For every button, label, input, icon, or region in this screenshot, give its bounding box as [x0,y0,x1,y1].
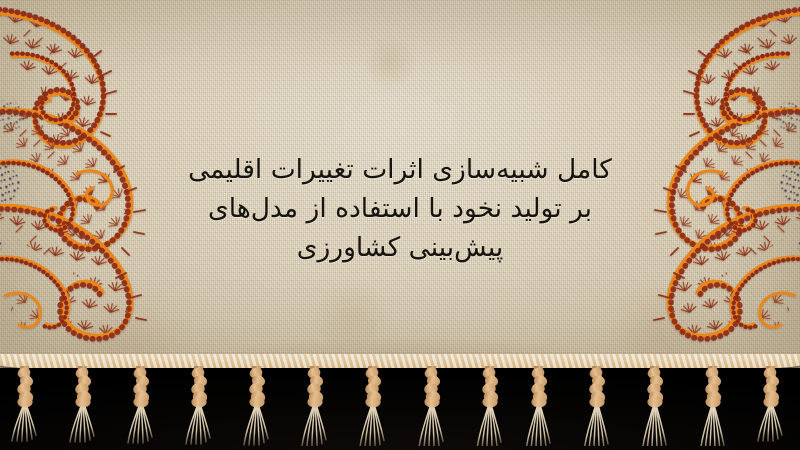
tassel [121,366,165,446]
title-line-1: کامل شبیه‌سازی اثرات تغییرات اقلیمی [0,150,800,189]
tassel [464,366,508,446]
tassel [749,366,793,446]
tassel [64,366,108,446]
tassel [7,366,51,446]
tassel [521,366,565,446]
tassel [349,366,393,446]
tassel [178,366,222,446]
tassel [578,366,622,446]
knotted-tassel-fringe [0,366,800,450]
tassel [407,366,451,446]
slide-canvas: کامل شبیه‌سازی اثرات تغییرات اقلیمی بر ت… [0,0,800,450]
tassel [635,366,679,446]
textile-background: کامل شبیه‌سازی اثرات تغییرات اقلیمی بر ت… [0,0,800,372]
slide-title: کامل شبیه‌سازی اثرات تغییرات اقلیمی بر ت… [0,150,800,267]
tassel [692,366,736,446]
title-line-2: بر تولید نخود با استفاده از مدل‌های [0,189,800,228]
tassel [235,366,279,446]
tassel [292,366,336,446]
title-line-3: پیش‌بینی کشاورزی [0,228,800,267]
